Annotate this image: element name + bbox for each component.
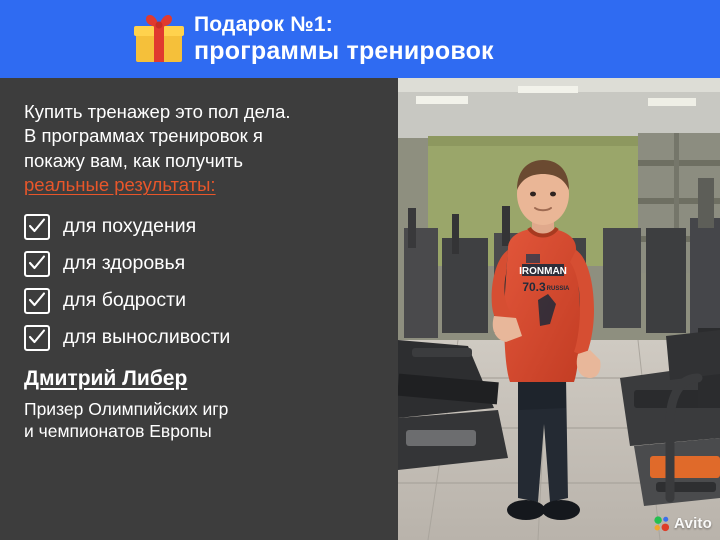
avito-watermark-text: Avito (674, 515, 712, 532)
checkbox-icon (24, 214, 50, 240)
checklist-label: для выносливости (63, 326, 230, 349)
header-title-line2: программы тренировок (194, 37, 494, 65)
left-content-panel: Купить тренажер это пол дела. В программ… (0, 78, 398, 540)
author-title-line1: Призер Олимпийских игр (24, 398, 380, 421)
intro-line-1: Купить тренажер это пол дела. (24, 100, 380, 124)
checkbox-icon (24, 251, 50, 277)
header-title-line1: Подарок №1: (194, 13, 494, 37)
avito-watermark: Avito (653, 515, 712, 532)
svg-text:RUSSIA: RUSSIA (547, 286, 570, 292)
author-title: Призер Олимпийских игр и чемпионатов Евр… (24, 398, 380, 444)
header-banner: Подарок №1: программы тренировок (0, 0, 720, 78)
intro-line-2: В программах тренировок я (24, 124, 380, 148)
svg-text:IRONMAN: IRONMAN (519, 266, 567, 277)
promo-banner: Подарок №1: программы тренировок Купить … (0, 0, 720, 540)
checkbox-icon (24, 288, 50, 314)
header-text-block: Подарок №1: программы тренировок (194, 13, 494, 65)
benefits-checklist: для похудения для здоровья для бодрости (24, 214, 380, 351)
checkbox-icon (24, 325, 50, 351)
intro-paragraph: Купить тренажер это пол дела. В программ… (24, 100, 380, 198)
gift-icon (132, 12, 186, 66)
avito-logo-icon (653, 515, 670, 532)
list-item: для бодрости (24, 288, 380, 314)
gym-photo-illustration: IRONMAN 70.3 RUSSIA (398, 78, 720, 540)
trainer-photo: IRONMAN 70.3 RUSSIA Avito (398, 78, 720, 540)
signature-block: Дмитрий Либер Призер Олимпийских игр и ч… (24, 367, 380, 444)
checklist-label: для бодрости (63, 289, 186, 312)
checklist-label: для похудения (63, 215, 196, 238)
list-item: для здоровья (24, 251, 380, 277)
list-item: для похудения (24, 214, 380, 240)
author-name: Дмитрий Либер (24, 367, 187, 391)
svg-text:70.3: 70.3 (522, 280, 546, 294)
author-title-line2: и чемпионатов Европы (24, 420, 380, 443)
checklist-label: для здоровья (63, 252, 185, 275)
intro-line-3: покажу вам, как получить (24, 149, 380, 173)
intro-accent-line: реальные результаты: (24, 173, 380, 197)
list-item: для выносливости (24, 325, 380, 351)
